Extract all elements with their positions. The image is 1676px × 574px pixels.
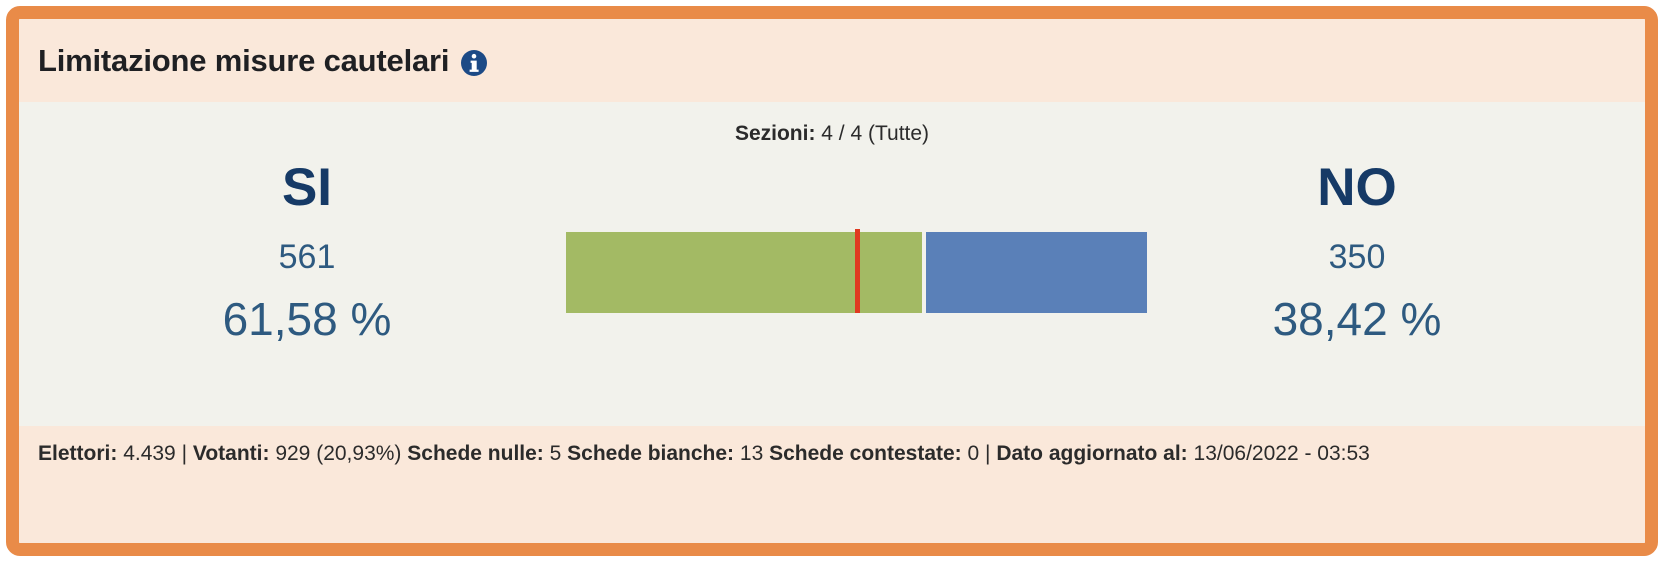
si-percent: 61,58 % xyxy=(57,296,557,342)
null-ballots-value: 5 xyxy=(550,442,562,465)
card-body: Sezioni: 4 / 4 (Tutte) SI 561 61,58 % NO… xyxy=(19,102,1645,426)
si-votes: 561 xyxy=(57,240,557,274)
results-row: SI 561 61,58 % NO 350 38,42 % xyxy=(19,160,1645,342)
result-column-si: SI 561 61,58 % xyxy=(19,160,557,342)
null-ballots-label: Schede nulle: xyxy=(407,442,544,465)
electors-value: 4.439 xyxy=(123,442,176,465)
footer-separator-2: | xyxy=(979,442,996,465)
updated-label: Dato aggiornato al: xyxy=(996,442,1187,465)
bar-segment-si xyxy=(566,232,922,313)
no-percent: 38,42 % xyxy=(1107,296,1607,342)
sections-status: Sezioni: 4 / 4 (Tutte) xyxy=(19,102,1645,146)
electors-label: Elettori: xyxy=(38,442,117,465)
referendum-result-card: Limitazione misure cautelari Sezioni: 4 … xyxy=(6,6,1658,556)
card-header: Limitazione misure cautelari xyxy=(19,19,1645,102)
si-label: SI xyxy=(57,160,557,216)
voters-value: 929 (20,93%) xyxy=(275,442,401,465)
bar-segment-no xyxy=(926,232,1147,313)
no-votes: 350 xyxy=(1107,240,1607,274)
result-bar-chart xyxy=(566,232,1147,313)
page-title: Limitazione misure cautelari xyxy=(38,43,449,79)
sections-value: 4 / 4 (Tutte) xyxy=(821,122,929,145)
blank-ballots-label: Schede bianche: xyxy=(567,442,734,465)
sections-label: Sezioni: xyxy=(735,122,816,145)
contested-ballots-value: 0 xyxy=(968,442,980,465)
card-footer: Elettori: 4.439 | Votanti: 929 (20,93%) … xyxy=(19,426,1645,543)
no-label: NO xyxy=(1107,160,1607,216)
updated-value: 13/06/2022 - 03:53 xyxy=(1194,442,1370,465)
info-circle-icon[interactable] xyxy=(460,49,488,77)
voters-label: Votanti: xyxy=(193,442,270,465)
bar-threshold-marker xyxy=(855,229,860,313)
footer-separator-1: | xyxy=(176,442,193,465)
blank-ballots-value: 13 xyxy=(740,442,763,465)
stacked-bar xyxy=(566,232,1147,313)
contested-ballots-label: Schede contestate: xyxy=(769,442,962,465)
result-column-no: NO 350 38,42 % xyxy=(1107,160,1645,342)
